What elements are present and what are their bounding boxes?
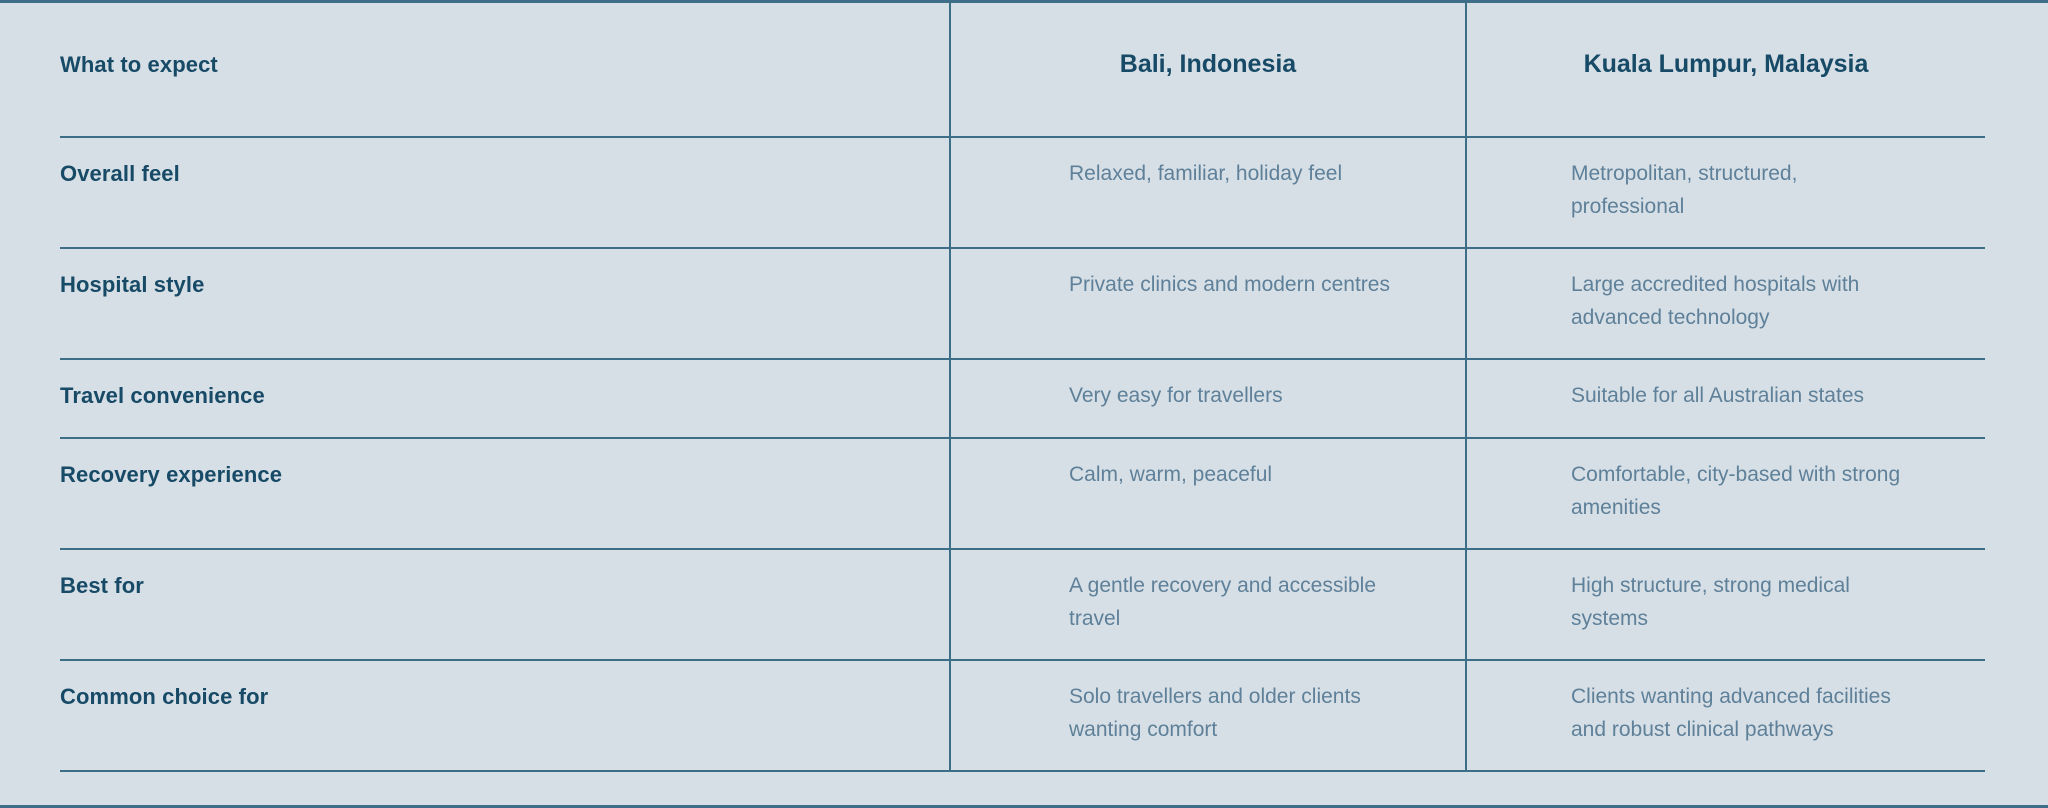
row-label-best-for: Best for bbox=[60, 549, 950, 660]
table-row: Overall feel Relaxed, familiar, holiday … bbox=[60, 137, 1985, 248]
table-row: Travel convenience Very easy for travell… bbox=[60, 359, 1985, 438]
row-label-text: Overall feel bbox=[60, 138, 949, 210]
cell-text: Very easy for travellers bbox=[951, 360, 1443, 437]
cell-bali-overall-feel: Relaxed, familiar, holiday feel bbox=[950, 137, 1466, 248]
column-header-bali: Bali, Indonesia bbox=[950, 3, 1466, 137]
cell-bali-common-choice-for: Solo travellers and older clients wantin… bbox=[950, 660, 1466, 771]
destination-comparison-table: What to expect Bali, Indonesia Kuala Lum… bbox=[60, 3, 1985, 772]
cell-bali-travel-convenience: Very easy for travellers bbox=[950, 359, 1466, 438]
column-header-bali-label: Bali, Indonesia bbox=[951, 3, 1465, 136]
table-row: Hospital style Private clinics and moder… bbox=[60, 248, 1985, 359]
cell-text: Comfortable, city-based with strong amen… bbox=[1467, 439, 1945, 548]
cell-text: Clients wanting advanced facilities and … bbox=[1467, 661, 1945, 770]
row-label-common-choice-for: Common choice for bbox=[60, 660, 950, 771]
column-header-aspect-label: What to expect bbox=[60, 3, 949, 135]
cell-text: Solo travellers and older clients wantin… bbox=[951, 661, 1443, 770]
row-label-hospital-style: Hospital style bbox=[60, 248, 950, 359]
cell-kuala-lumpur-travel-convenience: Suitable for all Australian states bbox=[1466, 359, 1985, 438]
row-label-travel-convenience: Travel convenience bbox=[60, 359, 950, 438]
row-label-text: Travel convenience bbox=[60, 360, 949, 432]
table-row: Best for A gentle recovery and accessibl… bbox=[60, 549, 1985, 660]
cell-text: Relaxed, familiar, holiday feel bbox=[951, 138, 1443, 215]
cell-bali-hospital-style: Private clinics and modern centres bbox=[950, 248, 1466, 359]
table-row: Common choice for Solo travellers and ol… bbox=[60, 660, 1985, 771]
cell-text: Large accredited hospitals with advanced… bbox=[1467, 249, 1945, 358]
row-label-recovery-experience: Recovery experience bbox=[60, 438, 950, 549]
cell-text: Private clinics and modern centres bbox=[951, 249, 1443, 326]
cell-text: Calm, warm, peaceful bbox=[951, 439, 1443, 516]
comparison-table-wrapper: What to expect Bali, Indonesia Kuala Lum… bbox=[0, 3, 2048, 808]
cell-bali-best-for: A gentle recovery and accessible travel bbox=[950, 549, 1466, 660]
table-header-row: What to expect Bali, Indonesia Kuala Lum… bbox=[60, 3, 1985, 137]
cell-kuala-lumpur-common-choice-for: Clients wanting advanced facilities and … bbox=[1466, 660, 1985, 771]
cell-kuala-lumpur-recovery-experience: Comfortable, city-based with strong amen… bbox=[1466, 438, 1985, 549]
column-header-kuala-lumpur: Kuala Lumpur, Malaysia bbox=[1466, 3, 1985, 137]
row-label-text: Best for bbox=[60, 550, 949, 622]
comparison-page: What to expect Bali, Indonesia Kuala Lum… bbox=[0, 0, 2048, 808]
cell-bali-recovery-experience: Calm, warm, peaceful bbox=[950, 438, 1466, 549]
cell-text: Metropolitan, structured, professional bbox=[1467, 138, 1945, 247]
column-header-aspect: What to expect bbox=[60, 3, 950, 137]
cell-text: A gentle recovery and accessible travel bbox=[951, 550, 1443, 659]
row-label-text: Recovery experience bbox=[60, 439, 949, 511]
row-label-text: Common choice for bbox=[60, 661, 949, 733]
cell-kuala-lumpur-best-for: High structure, strong medical systems bbox=[1466, 549, 1985, 660]
cell-text: High structure, strong medical systems bbox=[1467, 550, 1945, 659]
cell-kuala-lumpur-overall-feel: Metropolitan, structured, professional bbox=[1466, 137, 1985, 248]
row-label-text: Hospital style bbox=[60, 249, 949, 321]
cell-text: Suitable for all Australian states bbox=[1467, 360, 1945, 437]
column-header-kuala-lumpur-label: Kuala Lumpur, Malaysia bbox=[1467, 3, 1985, 136]
cell-kuala-lumpur-hospital-style: Large accredited hospitals with advanced… bbox=[1466, 248, 1985, 359]
table-row: Recovery experience Calm, warm, peaceful… bbox=[60, 438, 1985, 549]
row-label-overall-feel: Overall feel bbox=[60, 137, 950, 248]
